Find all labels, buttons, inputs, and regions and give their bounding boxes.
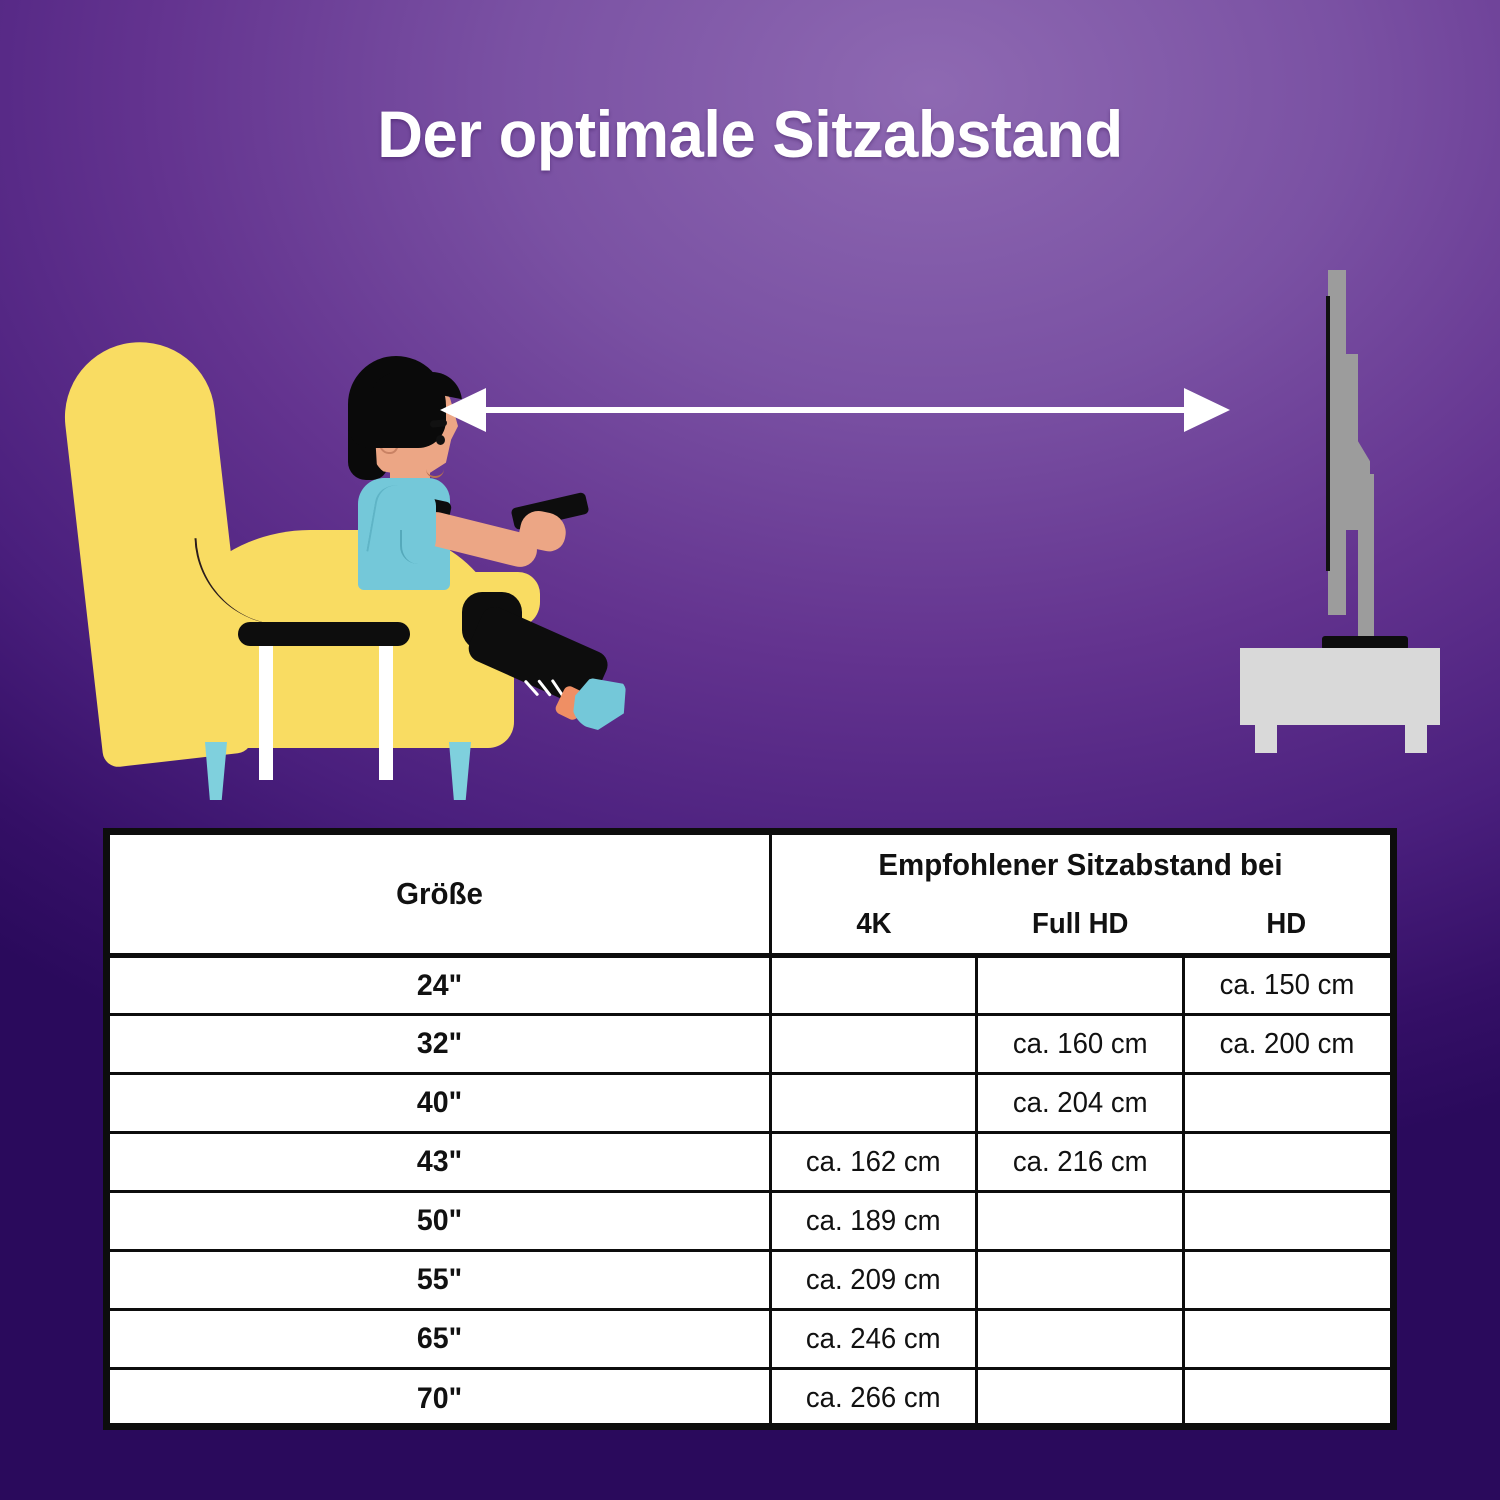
table-header-row-group: Größe Empfohlener Sitzabstand bei bbox=[110, 835, 1390, 895]
table-row: 24" ca. 150 cm bbox=[110, 956, 1390, 1015]
header-hd: HD bbox=[1189, 895, 1385, 956]
stool-top bbox=[238, 622, 410, 646]
tv-console-leg-left bbox=[1255, 725, 1277, 753]
cell-4k bbox=[776, 956, 972, 1015]
cell-4k: ca. 209 cm bbox=[776, 1251, 972, 1310]
tv-console-cabinet bbox=[1240, 648, 1440, 725]
cell-fullhd: ca. 160 cm bbox=[982, 1015, 1178, 1074]
table-row: 43" ca. 162 cm ca. 216 cm bbox=[110, 1133, 1390, 1192]
cell-size: 24" bbox=[127, 956, 754, 1015]
table-row: 65" ca. 246 cm bbox=[110, 1310, 1390, 1369]
header-4k: 4K bbox=[776, 895, 972, 956]
cell-size: 70" bbox=[127, 1369, 754, 1428]
header-fullhd: Full HD bbox=[982, 895, 1178, 956]
cell-size: 65" bbox=[127, 1310, 754, 1369]
armchair-leg-rear bbox=[449, 742, 471, 800]
television-group bbox=[1100, 250, 1430, 770]
table-row: 32" ca. 160 cm ca. 200 cm bbox=[110, 1015, 1390, 1074]
table-row: 70" ca. 266 cm bbox=[110, 1369, 1390, 1428]
cell-hd bbox=[1189, 1133, 1385, 1192]
poster-root: Der optimale Sitzabstand bbox=[0, 0, 1500, 1500]
arrow-head-right-icon bbox=[1184, 388, 1230, 432]
cell-fullhd: ca. 216 cm bbox=[982, 1133, 1178, 1192]
cell-fullhd: ca. 204 cm bbox=[982, 1074, 1178, 1133]
table-row: 40" ca. 204 cm bbox=[110, 1074, 1390, 1133]
cell-hd bbox=[1189, 1251, 1385, 1310]
tv-screen-edge bbox=[1326, 296, 1330, 571]
cell-hd bbox=[1189, 1074, 1385, 1133]
cell-hd: ca. 200 cm bbox=[1189, 1015, 1385, 1074]
cell-4k: ca. 246 cm bbox=[776, 1310, 972, 1369]
armchair-leg-front bbox=[205, 742, 227, 800]
cell-hd bbox=[1189, 1192, 1385, 1251]
table-row: 50" ca. 189 cm bbox=[110, 1192, 1390, 1251]
cell-4k: ca. 189 cm bbox=[776, 1192, 972, 1251]
cell-hd bbox=[1189, 1369, 1385, 1428]
cell-4k: ca. 162 cm bbox=[776, 1133, 972, 1192]
cell-fullhd bbox=[982, 1251, 1178, 1310]
illustration-scene bbox=[0, 0, 1500, 820]
tv-panel bbox=[1328, 270, 1346, 615]
table-head: Größe Empfohlener Sitzabstand bei 4K Ful… bbox=[110, 835, 1390, 956]
distance-arrow bbox=[440, 380, 1230, 440]
cell-fullhd bbox=[982, 1192, 1178, 1251]
stool-leg-left bbox=[259, 640, 273, 780]
cell-size: 55" bbox=[127, 1251, 754, 1310]
cell-fullhd bbox=[982, 1369, 1178, 1428]
header-group: Empfohlener Sitzabstand bei bbox=[786, 835, 1375, 895]
cell-hd: ca. 150 cm bbox=[1189, 956, 1385, 1015]
tv-rear-housing-taper bbox=[1346, 438, 1370, 478]
tv-stand-neck bbox=[1358, 474, 1374, 644]
table-body: 24" ca. 150 cm 32" ca. 160 cm ca. 200 cm… bbox=[110, 956, 1390, 1428]
table-row: 55" ca. 209 cm bbox=[110, 1251, 1390, 1310]
cell-size: 43" bbox=[127, 1133, 754, 1192]
cell-4k bbox=[776, 1074, 972, 1133]
cell-size: 40" bbox=[127, 1074, 754, 1133]
cell-fullhd bbox=[982, 1310, 1178, 1369]
cell-fullhd bbox=[982, 956, 1178, 1015]
arrow-shaft bbox=[480, 407, 1190, 413]
cell-hd bbox=[1189, 1310, 1385, 1369]
cell-4k bbox=[776, 1015, 972, 1074]
person-hair bbox=[348, 356, 446, 448]
cell-4k: ca. 266 cm bbox=[776, 1369, 972, 1428]
cell-size: 50" bbox=[127, 1192, 754, 1251]
tv-console-leg-right bbox=[1405, 725, 1427, 753]
cell-size: 32" bbox=[127, 1015, 754, 1074]
header-size: Größe bbox=[127, 835, 754, 956]
table: Größe Empfohlener Sitzabstand bei 4K Ful… bbox=[110, 835, 1390, 1428]
seating-distance-table: Größe Empfohlener Sitzabstand bei 4K Ful… bbox=[103, 828, 1397, 1430]
stool-leg-right bbox=[379, 640, 393, 780]
